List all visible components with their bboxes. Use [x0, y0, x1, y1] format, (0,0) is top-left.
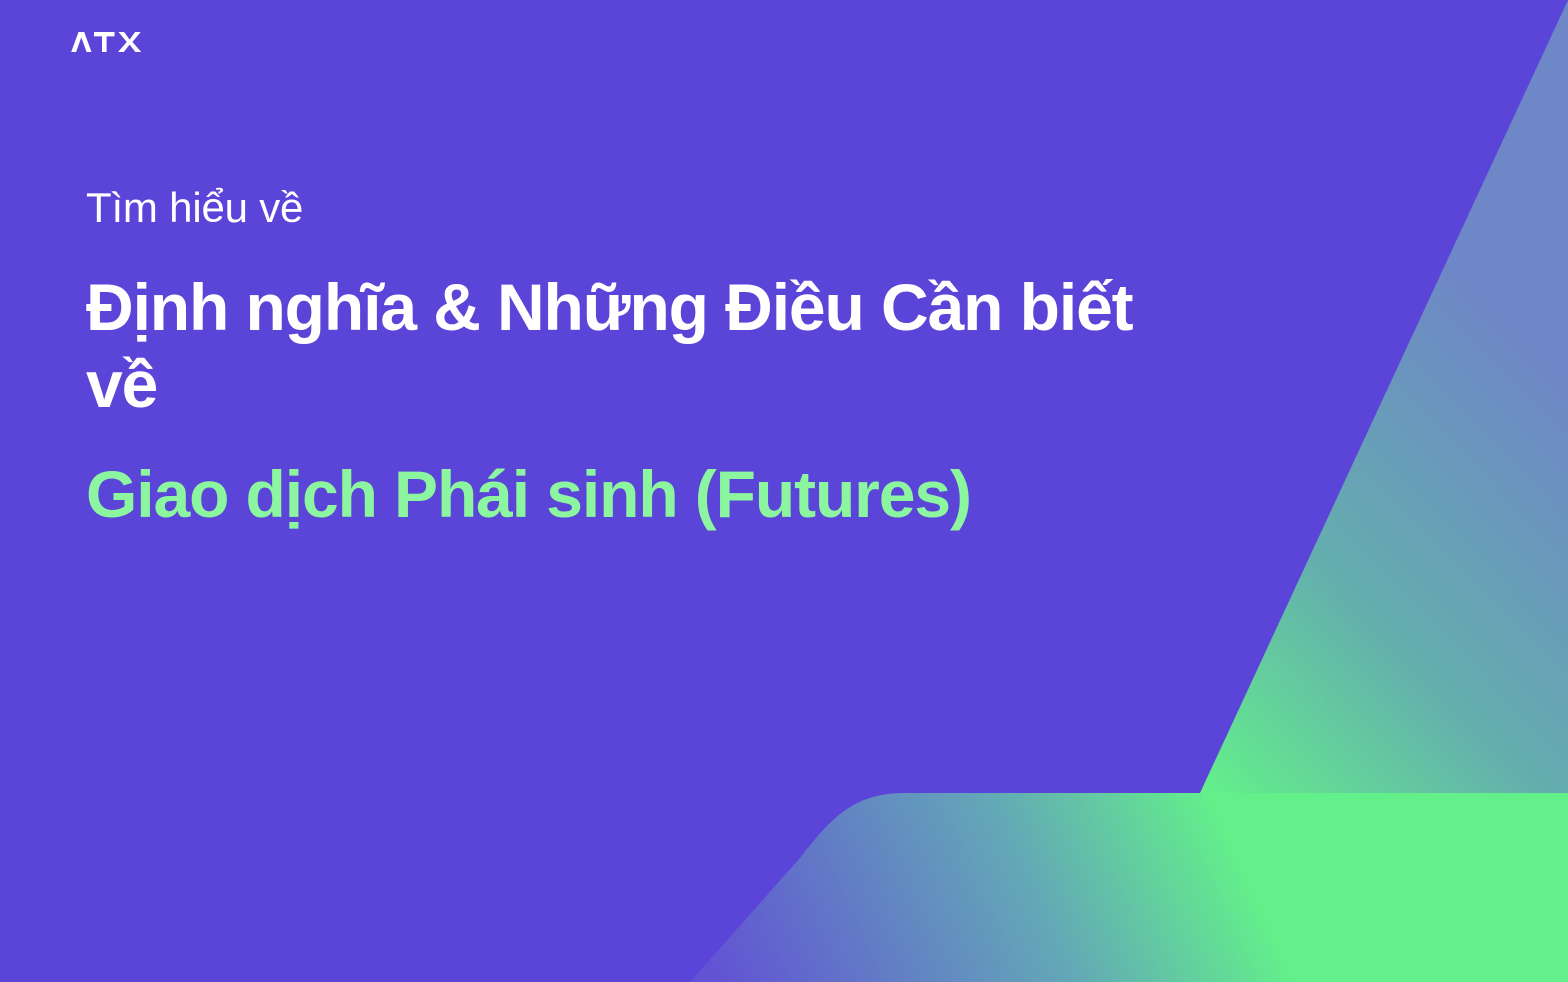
- page-subtitle-accent: Giao dịch Phái sinh (Futures): [86, 456, 1046, 533]
- artwork-upper-band: [1200, 0, 1568, 793]
- slide-canvas: ATX Tìm hiểu về Định nghĩa & Những Điều …: [0, 0, 1568, 982]
- slide-copy: Tìm hiểu về Định nghĩa & Những Điều Cần …: [86, 182, 1246, 533]
- page-title: Định nghĩa & Những Điều Cần biết về: [86, 269, 1216, 422]
- logo-letter-a: [71, 32, 91, 52]
- logo-letter-x: [118, 32, 141, 52]
- logo-letter-t: [94, 32, 115, 52]
- artwork-lower-band: [690, 793, 1568, 982]
- eyebrow-text: Tìm hiểu về: [86, 182, 1246, 233]
- atx-logo: ATX: [68, 28, 148, 62]
